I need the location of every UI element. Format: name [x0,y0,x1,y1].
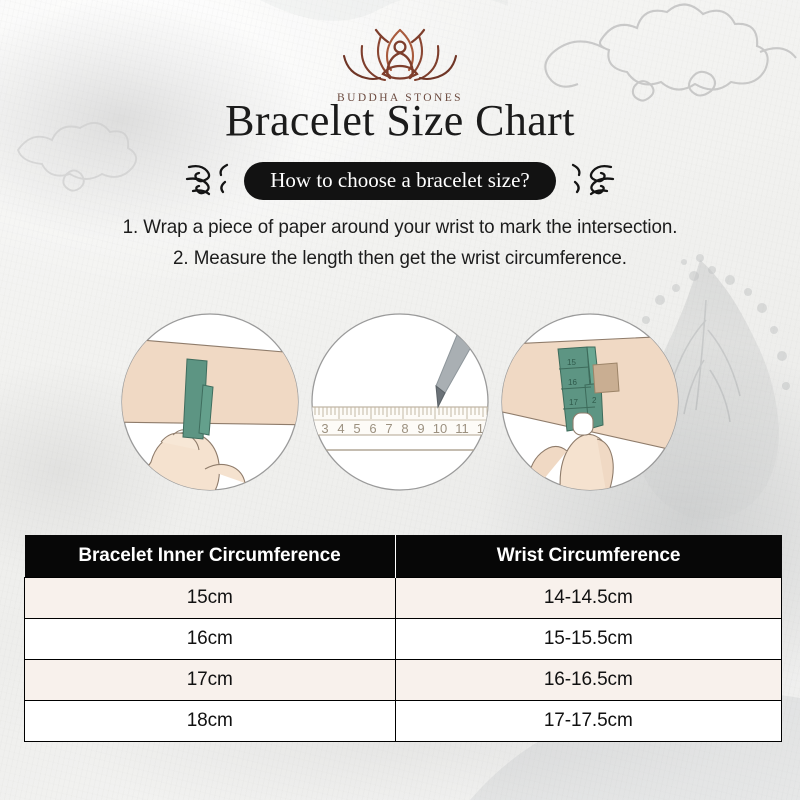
wrist-with-paper-strip-icon [115,337,305,494]
how-to-banner: How to choose a bracelet size? [0,160,800,202]
cell-bracelet-circumference: 17cm [25,660,396,701]
illustration-read-wrist-circumference: 15 16 17 2 [495,307,685,497]
tape-label-17: 17 [569,398,578,407]
table-row: 18cm 17-17.5cm [25,701,782,742]
instructions-list: 1. Wrap a piece of paper around your wri… [0,212,800,274]
illustration-row: 3 4 5 6 7 8 9 10 11 12 [0,307,800,497]
brand-logo: BUDDHA STONES [0,24,800,104]
cell-wrist-circumference: 14-14.5cm [395,578,782,619]
ruler-tick-5: 5 [353,421,360,436]
tape-label-16: 16 [568,378,577,387]
tape-label-15: 15 [567,358,576,367]
cell-bracelet-circumference: 18cm [25,701,396,742]
cell-wrist-circumference: 15-15.5cm [395,619,782,660]
illustration-measure-with-ruler: 3 4 5 6 7 8 9 10 11 12 [305,307,495,497]
table-row: 15cm 14-14.5cm [25,578,782,619]
size-table-body: 15cm 14-14.5cm 16cm 15-15.5cm 17cm 16-16… [25,578,782,742]
tape-label-2: 2 [592,396,597,405]
illustration-wrap-paper-around-wrist [115,307,305,497]
cell-wrist-circumference: 16-16.5cm [395,660,782,701]
ruler-tick-9: 9 [417,421,424,436]
cell-bracelet-circumference: 15cm [25,578,396,619]
instruction-step-2: 2. Measure the length then get the wrist… [14,243,786,274]
banner-question: How to choose a bracelet size? [244,162,555,200]
cell-wrist-circumference: 17-17.5cm [395,701,782,742]
column-header-bracelet: Bracelet Inner Circumference [25,535,396,578]
column-header-wrist: Wrist Circumference [395,535,782,578]
ruler-tick-10: 10 [433,421,447,436]
size-table: Bracelet Inner Circumference Wrist Circu… [24,535,782,742]
page-title: Bracelet Size Chart [0,98,800,144]
ruler-tick-3: 3 [321,421,328,436]
instruction-step-1: 1. Wrap a piece of paper around your wri… [14,212,786,243]
ruler-tick-7: 7 [385,421,392,436]
size-table-head: Bracelet Inner Circumference Wrist Circu… [25,535,782,578]
cloud-swirl-ornament-right-icon [569,162,617,201]
lotus-meditation-icon [331,73,469,90]
bracelet-size-chart-page: BUDDHA STONES Bracelet Size Chart How to… [0,0,800,800]
ruler-tick-6: 6 [369,421,376,436]
cloud-swirl-ornament-left-icon [183,162,231,201]
ruler-tick-8: 8 [401,421,408,436]
table-row: 17cm 16-16.5cm [25,660,782,701]
measuring-tape-on-wrist-icon: 15 16 17 2 [495,335,685,497]
ruler-tick-11: 11 [455,421,469,436]
table-header-row: Bracelet Inner Circumference Wrist Circu… [25,535,782,578]
table-row: 16cm 15-15.5cm [25,619,782,660]
cell-bracelet-circumference: 16cm [25,619,396,660]
ruler-tick-4: 4 [337,421,344,436]
